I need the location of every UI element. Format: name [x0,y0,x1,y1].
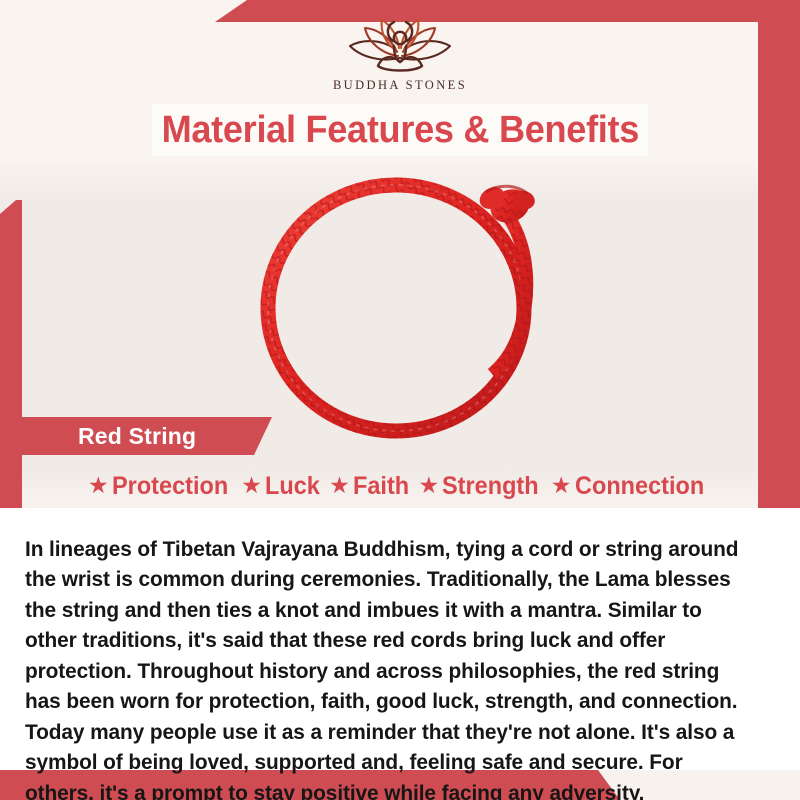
benefit-label: Protection [112,472,228,501]
star-icon: ★ [419,474,440,497]
benefit-item: ★ Connection [551,472,712,501]
star-icon: ★ [329,474,350,497]
benefit-label: Strength [442,472,539,501]
benefit-item: ★ Faith [329,472,412,501]
benefit-item: ★ Strength [419,472,545,501]
benefits-row: ★ Protection ★ Luck ★ Faith ★ Strength ★… [0,466,800,506]
benefit-label: Luck [265,472,320,501]
brand-wordmark: BUDDHA STONES [333,78,467,93]
product-image [236,158,582,452]
material-name: Red String [78,423,196,450]
star-icon: ★ [241,474,262,497]
benefit-item: ★ Protection [88,472,235,501]
benefit-item: ★ Luck [241,472,323,501]
lotus-meditation-icon [334,14,466,76]
material-ribbon: Red String [18,417,272,455]
poster-canvas: BUDDHA STONES Material Features & Benefi… [0,0,800,800]
description-panel: In lineages of Tibetan Vajrayana Buddhis… [0,508,800,770]
brand-header: BUDDHA STONES [0,0,800,105]
benefit-label: Faith [353,472,409,501]
star-icon: ★ [88,474,109,497]
title-banner: Material Features & Benefits [152,104,648,156]
description-text: In lineages of Tibetan Vajrayana Buddhis… [25,534,754,800]
benefit-label: Connection [575,472,704,501]
star-icon: ★ [551,474,572,497]
page-title: Material Features & Benefits [161,111,639,149]
